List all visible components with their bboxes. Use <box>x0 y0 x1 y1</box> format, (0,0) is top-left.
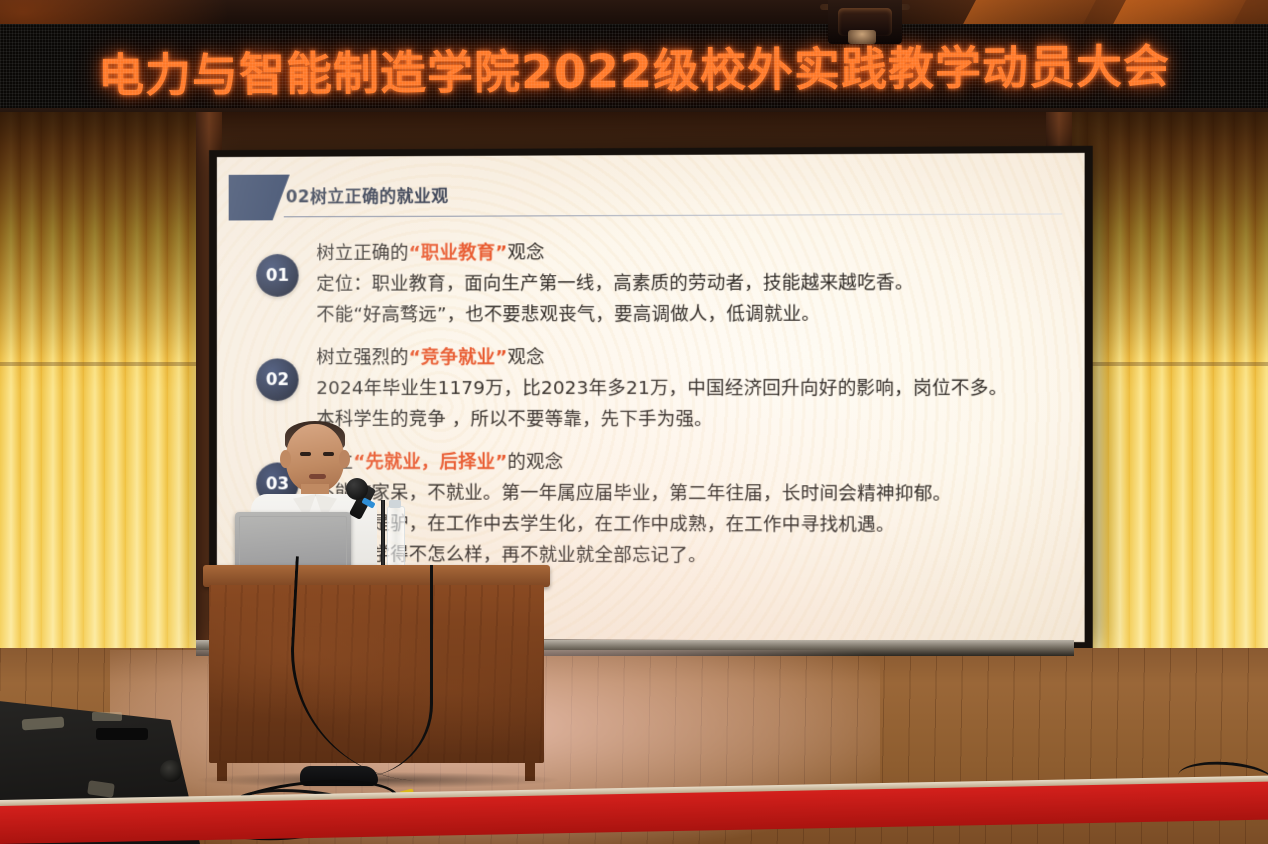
slide-text-segment: 树立强烈的 <box>316 347 408 368</box>
slide-block-badge: 01 <box>256 254 298 297</box>
slide-text-line: 2024年毕业生1179万，比2023年多21万，中国经济回升向好的影响，岗位不… <box>316 373 1007 404</box>
slide-text-line: 树立正确的“职业教育”观念 <box>316 236 913 269</box>
speaker-handle <box>96 728 148 740</box>
slide-text-highlight: “职业教育” <box>409 242 508 263</box>
slide-block-text: 树立“先就业，后择业”的观念不能在家呆，不就业。第一年属应届毕业，第二年往届，长… <box>316 447 951 572</box>
slide-text-line: 树立强烈的“竞争就业”观念 <box>316 342 1007 374</box>
curtain-seam <box>0 362 222 366</box>
slide-header: 02树立正确的就业观 <box>217 169 1085 223</box>
slide-text-segment: 不能在家呆，不就业。第一年属应届毕业，第二年往届，长时间会精神抑郁。 <box>316 482 951 504</box>
slide-block: 01树立正确的“职业教育”观念定位：职业教育，面向生产第一线，高素质的劳动者，技… <box>217 236 1085 331</box>
slide-text-segment: 不能“好高骛远”，也不要悲观丧气，要高调做人，低调就业。 <box>316 304 820 326</box>
slide-block-badge: 02 <box>256 358 298 401</box>
slide-text-line: 本科学生的竞争 ，所以不要等靠，先下手为强。 <box>316 404 1007 435</box>
curtain-shadow <box>0 112 222 362</box>
spotlight-lens <box>848 30 876 44</box>
slide-text-segment: 观念 <box>507 242 544 263</box>
auditorium-stage-photo: 电力与智能制造学院2022级校外实践教学动员大会 02树立正确的就业观 01树立… <box>0 0 1268 844</box>
microphone-icon <box>346 478 368 500</box>
presenter-ear-left <box>280 450 291 468</box>
presenter-eye-right <box>323 452 334 456</box>
slide-text-line: 树立“先就业，后择业”的观念 <box>316 447 951 479</box>
water-bottle-cap <box>389 500 401 508</box>
slide-block-text: 树立强烈的“竞争就业”观念2024年毕业生1179万，比2023年多21万，中国… <box>316 342 1007 436</box>
stage-curtain-left <box>0 112 222 732</box>
speaker-port-icon <box>160 760 182 782</box>
presenter-eye-left <box>300 452 311 456</box>
slide-text-segment: 树立正确的 <box>316 243 408 264</box>
speaker-scuff <box>92 712 122 721</box>
slide-text-segment: 观念 <box>507 347 544 368</box>
slide-text-segment: 定位：职业教育，面向生产第一线，高素质的劳动者，技能越来越吃香。 <box>316 272 913 294</box>
slide-block-text: 树立正确的“职业教育”观念定位：职业教育，面向生产第一线，高素质的劳动者，技能越… <box>316 236 913 330</box>
slide-text-segment: 的观念 <box>507 452 563 473</box>
led-banner: 电力与智能制造学院2022级校外实践教学动员大会 <box>0 24 1268 112</box>
slide-text-line: 定位：职业教育，面向生产第一线，高素质的劳动者，技能越来越吃香。 <box>316 267 913 299</box>
slide-text-highlight: “竞争就业” <box>409 347 508 368</box>
slide-block: 02树立强烈的“竞争就业”观念2024年毕业生1179万，比2023年多21万，… <box>217 342 1085 436</box>
slide-text-line: 是骡子是驴，在工作中去学生化，在工作中成熟，在工作中寻找机遇。 <box>316 508 951 541</box>
slide-text-segment: 2024年毕业生1179万，比2023年多21万，中国经济回升向好的影响，岗位不… <box>316 378 1007 399</box>
led-banner-text: 电力与智能制造学院2022级校外实践教学动员大会 <box>0 24 1268 112</box>
presenter-ear-right <box>339 450 350 468</box>
slide-text-line: 不能“好高骛远”，也不要悲观丧气，要高调做人，低调就业。 <box>316 298 913 330</box>
slide-title: 02树立正确的就业观 <box>286 182 449 208</box>
presenter-head <box>286 424 344 492</box>
slide-text-line: 不能在家呆，不就业。第一年属应届毕业，第二年往届，长时间会精神抑郁。 <box>316 477 951 509</box>
slide-header-tab <box>229 175 290 221</box>
slide-header-rule <box>284 213 1062 217</box>
presenter-mouth <box>309 474 326 479</box>
